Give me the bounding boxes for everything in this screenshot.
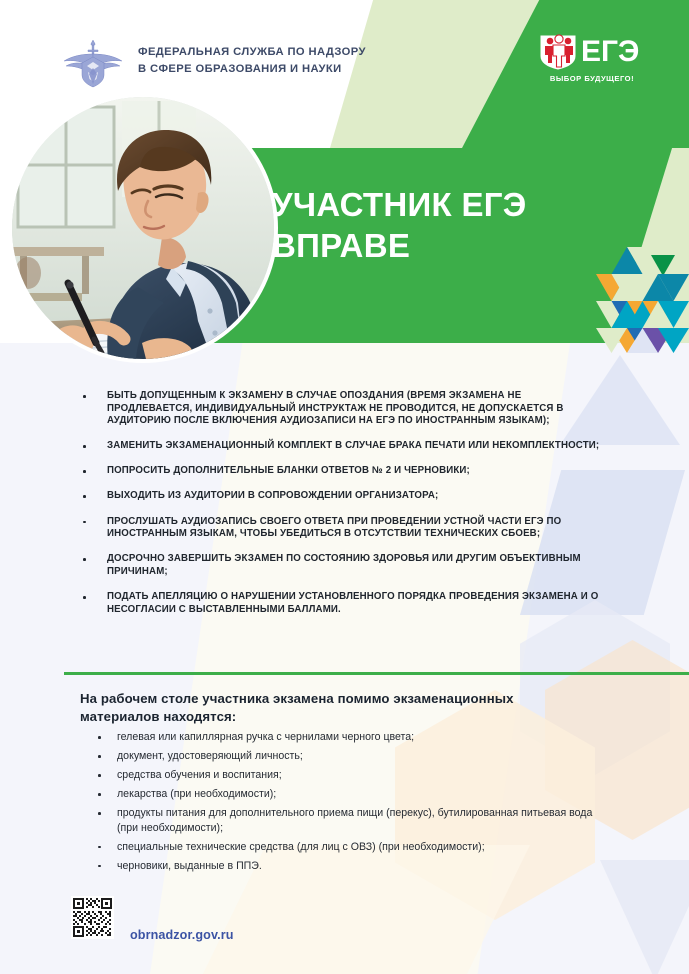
desk-list-item: черновики, выданные в ППЭ. xyxy=(93,859,613,874)
rights-list-item: ВЫХОДИТЬ ИЗ АУДИТОРИИ В СОПРОВОЖДЕНИИ ОР… xyxy=(80,490,600,503)
ege-slogan: ВЫБОР БУДУЩЕГО! xyxy=(530,74,654,83)
ege-logo-icon: ЕГЭ xyxy=(537,30,647,70)
desk-items-list: гелевая или капиллярная ручка с чернилам… xyxy=(93,730,613,877)
qr-code-icon[interactable] xyxy=(71,896,114,939)
desk-list-item: специальные технические средства (для ли… xyxy=(93,840,613,855)
student-photo xyxy=(12,97,274,359)
rights-list-item: БЫТЬ ДОПУЩЕННЫМ К ЭКЗАМЕНУ В СЛУЧАЕ ОПОЗ… xyxy=(80,390,600,428)
desk-list-item: документ, удостоверяющий личность; xyxy=(93,749,613,764)
poster-title-line-2: ВПРАВЕ xyxy=(272,225,602,266)
rights-list-item: ПРОСЛУШАТЬ АУДИОЗАПИСЬ СВОЕГО ОТВЕТА ПРИ… xyxy=(80,516,600,541)
rosobrnadzor-emblem-icon xyxy=(62,34,124,92)
website-url[interactable]: obrnadzor.gov.ru xyxy=(130,928,234,942)
desk-list-item: средства обучения и воспитания; xyxy=(93,768,613,783)
desk-list-item: лекарства (при необходимости); xyxy=(93,787,613,802)
organization-title: ФЕДЕРАЛЬНАЯ СЛУЖБА ПО НАДЗОРУ В СФЕРЕ ОБ… xyxy=(138,44,388,78)
org-title-line-1: ФЕДЕРАЛЬНАЯ СЛУЖБА ПО НАДЗОРУ xyxy=(138,44,388,61)
rights-list: БЫТЬ ДОПУЩЕННЫМ К ЭКЗАМЕНУ В СЛУЧАЕ ОПОЗ… xyxy=(80,390,600,616)
rights-list-item: ЗАМЕНИТЬ ЭКЗАМЕНАЦИОННЫЙ КОМПЛЕКТ В СЛУЧ… xyxy=(80,440,600,453)
rights-list-item: ПОПРОСИТЬ ДОПОЛНИТЕЛЬНЫЕ БЛАНКИ ОТВЕТОВ … xyxy=(80,465,600,478)
desk-list-item: продукты питания для дополнительного при… xyxy=(93,806,613,835)
rights-list-item: ДОСРОЧНО ЗАВЕРШИТЬ ЭКЗАМЕН ПО СОСТОЯНИЮ … xyxy=(80,553,600,578)
rights-section: БЫТЬ ДОПУЩЕННЫМ К ЭКЗАМЕНУ В СЛУЧАЕ ОПОЗ… xyxy=(80,390,600,629)
poster-title: УЧАСТНИК ЕГЭ ВПРАВЕ xyxy=(272,184,602,266)
svg-text:ЕГЭ: ЕГЭ xyxy=(581,35,639,68)
section-divider xyxy=(64,672,689,675)
desk-section-heading: На рабочем столе участника экзамена поми… xyxy=(80,690,580,726)
org-title-line-2: В СФЕРЕ ОБРАЗОВАНИЯ И НАУКИ xyxy=(138,61,388,78)
poster-root: ФЕДЕРАЛЬНАЯ СЛУЖБА ПО НАДЗОРУ В СФЕРЕ ОБ… xyxy=(0,0,689,974)
triangle-mosaic-decoration xyxy=(596,247,689,353)
rights-list-item: ПОДАТЬ АПЕЛЛЯЦИЮ О НАРУШЕНИИ УСТАНОВЛЕНН… xyxy=(80,591,600,616)
desk-list-item: гелевая или капиллярная ручка с чернилам… xyxy=(93,730,613,745)
poster-title-line-1: УЧАСТНИК ЕГЭ xyxy=(272,184,602,225)
